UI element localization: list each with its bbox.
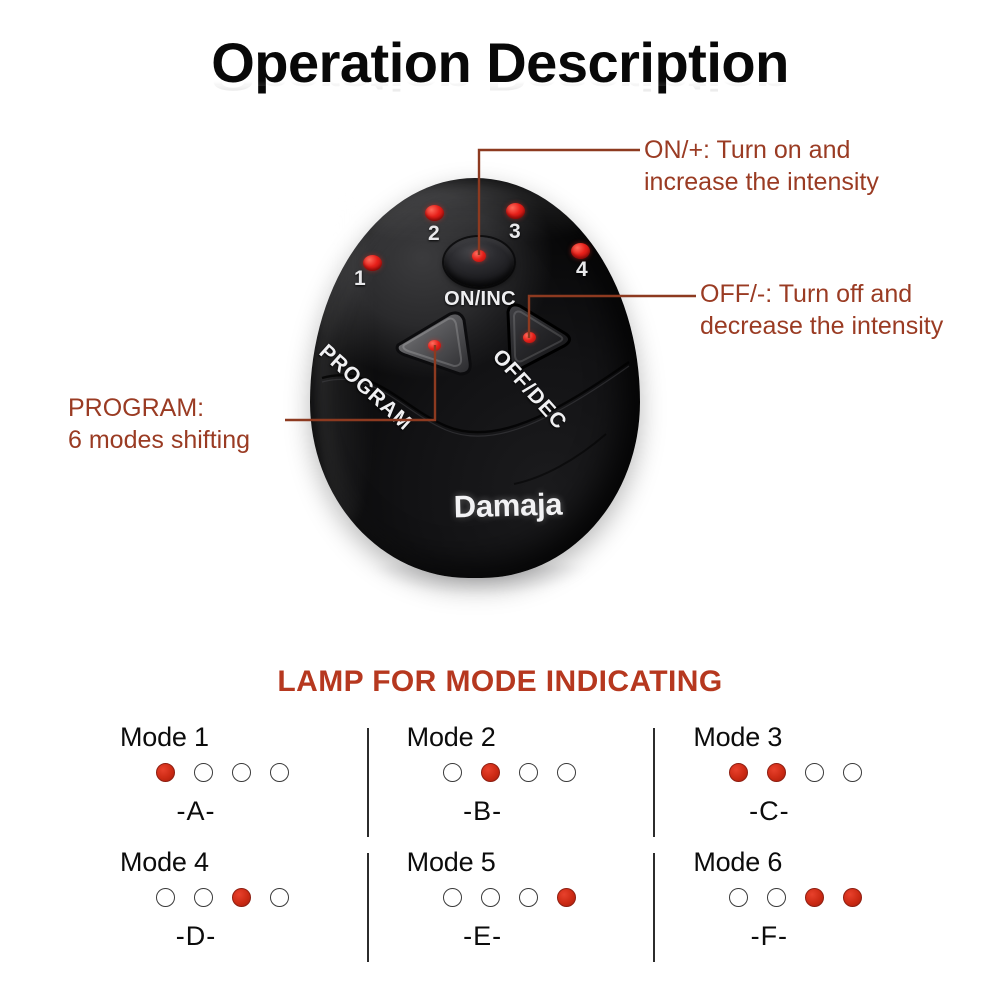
mode-grid: Mode 1-A-Mode 2-B-Mode 3-C-Mode 4-D-Mode… [80, 722, 940, 972]
device-led-4 [571, 243, 590, 259]
mode-led-on [232, 888, 251, 907]
mode-cell: Mode 2-B- [367, 722, 654, 847]
mode-cell: Mode 5-E- [367, 847, 654, 972]
mode-led-on [767, 763, 786, 782]
mode-led-off [270, 763, 289, 782]
mode-title: Mode 2 [407, 722, 654, 753]
mode-letter: -D- [116, 921, 276, 952]
mode-title: Mode 1 [120, 722, 367, 753]
mode-led-off [767, 888, 786, 907]
mode-led-row [729, 888, 940, 907]
mode-led-row [729, 763, 940, 782]
mode-led-off [557, 763, 576, 782]
mode-led-off [481, 888, 500, 907]
mode-led-off [443, 763, 462, 782]
mode-led-off [194, 763, 213, 782]
mode-cell: Mode 6-F- [653, 847, 940, 972]
mode-cell: Mode 3-C- [653, 722, 940, 847]
device-led-number-1: 1 [354, 267, 366, 291]
mode-led-off [443, 888, 462, 907]
on-inc-button[interactable] [444, 237, 514, 287]
mode-led-off [194, 888, 213, 907]
mode-title: Mode 4 [120, 847, 367, 878]
device-led-number-3: 3 [509, 220, 521, 244]
on-inc-button-led [472, 250, 486, 262]
program-button-led [428, 340, 441, 351]
lamp-section-heading: LAMP FOR MODE INDICATING [0, 665, 1000, 699]
mode-title: Mode 6 [693, 847, 940, 878]
mode-led-row [156, 888, 367, 907]
callout-program-text: PROGRAM: 6 modes shifting [68, 392, 250, 456]
mode-led-on [843, 888, 862, 907]
mode-led-off [519, 763, 538, 782]
mode-letter: -E- [403, 921, 563, 952]
mode-led-off [232, 763, 251, 782]
mode-led-row [443, 888, 654, 907]
mode-led-off [729, 888, 748, 907]
mode-led-on [805, 888, 824, 907]
mode-title: Mode 5 [407, 847, 654, 878]
mode-led-row [443, 763, 654, 782]
mode-led-off [270, 888, 289, 907]
mode-title: Mode 3 [693, 722, 940, 753]
mode-led-off [519, 888, 538, 907]
mode-led-off [843, 763, 862, 782]
device-led-3 [506, 203, 525, 219]
device-led-number-2: 2 [428, 222, 440, 246]
mode-cell: Mode 4-D- [80, 847, 367, 972]
mode-led-row [156, 763, 367, 782]
mode-led-off [805, 763, 824, 782]
mode-letter: -F- [689, 921, 849, 952]
mode-led-on [481, 763, 500, 782]
mode-led-on [156, 763, 175, 782]
mode-letter: -A- [116, 796, 276, 827]
off-dec-button-led [523, 332, 536, 343]
mode-led-on [729, 763, 748, 782]
mode-letter: -B- [403, 796, 563, 827]
callout-on-text: ON/+: Turn on and increase the intensity [644, 134, 879, 198]
device-led-2 [425, 205, 444, 221]
brand-logo: Damaja [418, 486, 599, 527]
mode-led-off [156, 888, 175, 907]
mode-letter: -C- [689, 796, 849, 827]
mode-cell: Mode 1-A- [80, 722, 367, 847]
device-led-number-4: 4 [576, 258, 588, 282]
mode-led-on [557, 888, 576, 907]
callout-off-text: OFF/-: Turn off and decrease the intensi… [700, 278, 943, 342]
